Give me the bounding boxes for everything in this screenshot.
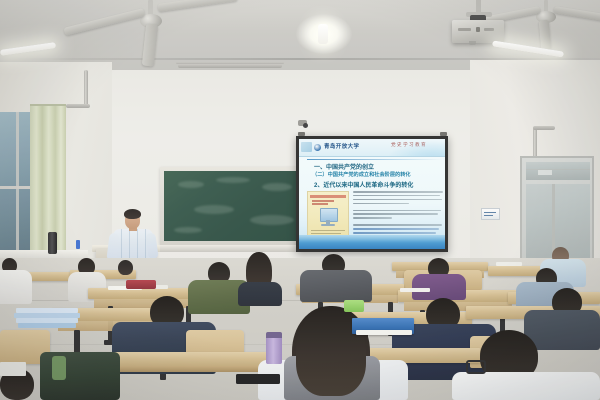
right-wall-pipe-elbow [533, 126, 555, 130]
institute-logo-icon [314, 144, 321, 151]
projector-vent-1 [458, 28, 471, 31]
projector-lens-icon [476, 27, 480, 32]
slide-header-wave [383, 139, 445, 156]
left-wall-pipe [84, 70, 88, 108]
slide-footer [299, 235, 445, 249]
student-purple-shirt-body [412, 274, 466, 300]
student-right-mid-body [524, 310, 600, 350]
screen-clip-left [298, 132, 305, 136]
slide-heading-3: 2、近代以来中国人民革命斗争的转化 [314, 180, 413, 189]
chalkboard [160, 167, 310, 245]
thermos-flask [48, 232, 57, 254]
slide: 青岛开放大学 党史学习教育 一、中国共产党的创立 （二）中国共产党的成立和社会阶… [299, 139, 445, 249]
green-box[interactable] [344, 300, 364, 312]
slide-brand-text: 青岛开放大学 [324, 143, 359, 151]
desk-row4-center-edge [96, 366, 276, 372]
glasses-icon [466, 360, 486, 374]
fan-right-blade-3 [539, 20, 552, 51]
blue-marker [76, 240, 80, 249]
student-gray-hoodie-body [300, 270, 372, 302]
student-row1-head-b [118, 260, 133, 275]
classroom-scene: 青岛开放大学 党史学习教育 一、中国共产党的创立 （二）中国共产党的成立和社会阶… [0, 0, 600, 400]
blue-textbook-pages [356, 330, 412, 335]
chalkboard-surface [164, 171, 306, 241]
door-label-plate [538, 170, 552, 175]
backpack-bottle-pocket [52, 356, 66, 380]
lecturer-hair [124, 209, 141, 219]
red-bag-on-desk[interactable] [126, 280, 156, 289]
student-left-front-body [0, 270, 32, 304]
fan-left-blade-2 [157, 0, 237, 12]
ceiling-light-fixture [318, 24, 328, 44]
paper-stack-4[interactable] [18, 323, 76, 328]
wall-sign [481, 208, 500, 220]
bottle-cap[interactable] [266, 332, 282, 338]
fan-left [110, 0, 270, 60]
student-white-shirt-body [452, 372, 600, 400]
paper-row2-right[interactable] [400, 288, 430, 292]
slide-heading-2: （二）中国共产党的成立和社会阶层的转化 [312, 171, 411, 178]
door-transom-glass [526, 162, 590, 180]
left-wall-pipe-elbow [66, 104, 90, 108]
ac-duct-icon [178, 64, 282, 68]
paper-front-left[interactable] [0, 362, 26, 376]
slide-header: 青岛开放大学 党史学习教育 [299, 139, 445, 157]
chalk-tray [158, 245, 314, 252]
screen-clip-right [440, 132, 447, 136]
slide-header-graphic-icon [301, 142, 312, 152]
window-mullion-v [16, 112, 19, 262]
student-backrow-longhair-body [238, 282, 282, 306]
mobile-phone[interactable] [236, 374, 280, 384]
slide-body-text [353, 191, 443, 240]
projector-foot [469, 41, 476, 45]
projector-vent-2 [484, 28, 494, 31]
slide-heading-1: 一、中国共产党的创立 [314, 162, 374, 171]
camera-lens-icon [303, 123, 308, 128]
projection-screen: 青岛开放大学 党史学习教育 一、中国共产党的创立 （二）中国共产党的成立和社会阶… [296, 136, 448, 252]
fan-right-blade-2 [553, 6, 600, 22]
paper-back-right[interactable] [496, 262, 522, 266]
purple-water-bottle[interactable] [266, 336, 282, 364]
ac-duct-edge [176, 62, 284, 64]
slide-divider [307, 159, 443, 160]
